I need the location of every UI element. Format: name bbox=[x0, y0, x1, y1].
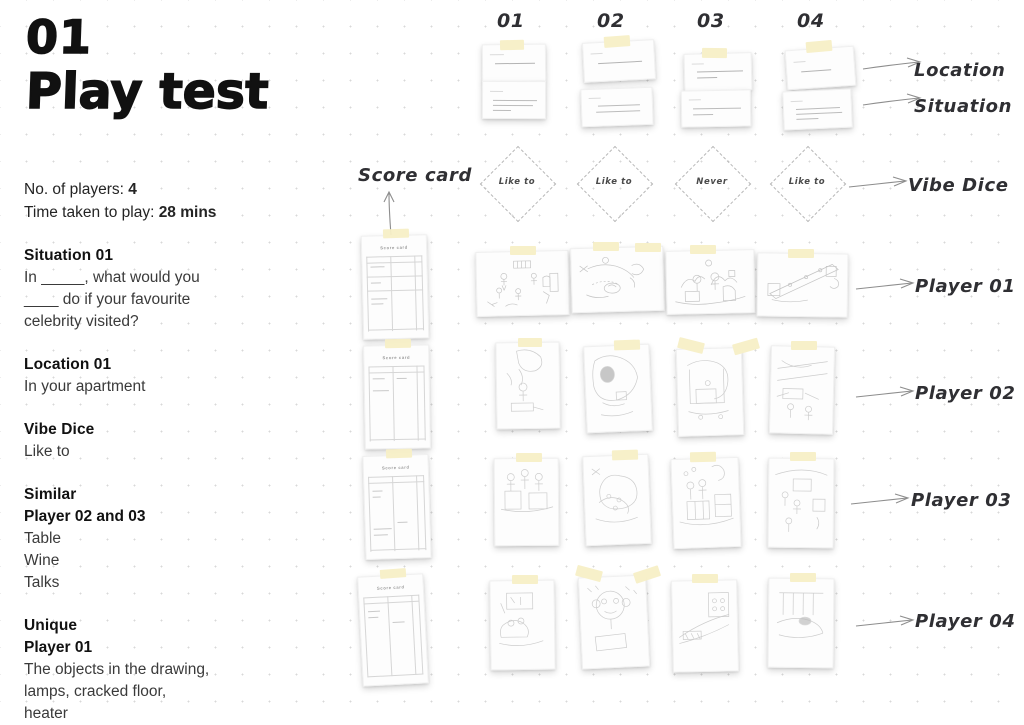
players-stat: No. of players: 4 bbox=[24, 179, 294, 201]
page-title: Play test bbox=[25, 66, 295, 117]
drawing-card[interactable] bbox=[757, 252, 849, 317]
tape-strip bbox=[383, 229, 409, 239]
sketch bbox=[579, 576, 649, 669]
situation-card[interactable] bbox=[482, 81, 546, 119]
drawing-card[interactable] bbox=[582, 454, 651, 546]
time-stat: Time taken to play: 28 mins bbox=[24, 202, 294, 224]
tape-strip bbox=[380, 568, 407, 579]
score-card-grid bbox=[364, 345, 430, 448]
section-line: Table bbox=[24, 528, 294, 550]
sketch bbox=[584, 345, 652, 433]
board-canvas: 01 Play test No. of players: 4 Time take… bbox=[0, 0, 1024, 715]
section-line: Wine bbox=[24, 550, 294, 572]
score-card-grid bbox=[362, 235, 428, 339]
time-value: 28 mins bbox=[159, 204, 217, 221]
score-card[interactable]: Score card bbox=[361, 234, 430, 340]
section-situation: Situation 01 In _____, what would you __… bbox=[24, 245, 294, 333]
row-label-situation: Situation bbox=[914, 96, 1012, 117]
section-line: The objects in the drawing, bbox=[24, 659, 294, 681]
score-card[interactable]: Score card bbox=[357, 573, 429, 686]
time-label: Time taken to play: bbox=[24, 204, 154, 221]
drawing-card[interactable] bbox=[583, 344, 653, 434]
drawing-card[interactable] bbox=[665, 249, 755, 315]
sketch bbox=[769, 459, 834, 548]
sketch bbox=[476, 251, 568, 316]
sketch bbox=[770, 346, 834, 433]
tape-strip bbox=[690, 452, 716, 462]
vibe-dice-label: Never bbox=[670, 177, 754, 187]
drawing-card[interactable] bbox=[676, 347, 744, 437]
players-label: No. of players: bbox=[24, 181, 124, 198]
section-heading: Situation 01 bbox=[24, 245, 294, 267]
section-heading: Vibe Dice bbox=[24, 419, 294, 441]
sketch bbox=[671, 458, 740, 548]
tape-strip bbox=[593, 242, 619, 251]
section-heading: Location 01 bbox=[24, 354, 294, 376]
tape-strip bbox=[516, 453, 542, 462]
section-unique: Unique Player 01 The objects in the draw… bbox=[24, 615, 294, 725]
drawing-card[interactable] bbox=[671, 579, 739, 672]
section-line: lamps, cracked floor, bbox=[24, 681, 294, 703]
section-vibe-dice: Vibe Dice Like to bbox=[24, 419, 294, 463]
vibe-dice-label: Like to bbox=[765, 177, 849, 187]
drawing-card[interactable] bbox=[475, 250, 569, 317]
score-card-grid bbox=[363, 455, 430, 559]
arrow-to-vibe-dice bbox=[848, 176, 910, 196]
score-card[interactable]: Score card bbox=[363, 344, 431, 449]
section-line: Like to bbox=[24, 441, 294, 463]
row-label-player-03: Player 03 bbox=[911, 490, 1012, 511]
section-line: In _____, what would you bbox=[24, 267, 294, 289]
section-line: In your apartment bbox=[24, 376, 294, 398]
tape-strip bbox=[614, 340, 640, 351]
tape-strip bbox=[512, 575, 538, 584]
sketch bbox=[495, 459, 559, 546]
play-stats: No. of players: 4 Time taken to play: 28… bbox=[24, 179, 294, 224]
tape-strip bbox=[510, 246, 536, 255]
section-heading: Unique bbox=[24, 615, 294, 637]
sketch bbox=[571, 247, 664, 313]
section-location: Location 01 In your apartment bbox=[24, 354, 294, 398]
sketch bbox=[672, 580, 738, 671]
tape-strip bbox=[692, 574, 718, 583]
arrow-to-player-04 bbox=[855, 615, 917, 635]
drawing-card[interactable] bbox=[670, 457, 741, 549]
sketch bbox=[758, 253, 848, 316]
row-label-vibe-dice: Vibe Dice bbox=[908, 175, 1009, 196]
drawing-card[interactable] bbox=[768, 458, 835, 549]
section-similar: Similar Player 02 and 03 Table Wine Talk… bbox=[24, 484, 294, 594]
drawing-card[interactable] bbox=[494, 458, 560, 547]
arrow-to-player-03 bbox=[850, 493, 912, 513]
column-header-01: 01 bbox=[497, 10, 525, 32]
tape-strip bbox=[633, 565, 661, 583]
arrow-to-player-02 bbox=[855, 386, 917, 406]
left-panel: 01 Play test No. of players: 4 Time take… bbox=[24, 6, 294, 725]
players-value: 4 bbox=[128, 181, 137, 198]
arrow-to-player-01 bbox=[855, 278, 917, 298]
drawing-card[interactable] bbox=[578, 575, 650, 670]
location-card[interactable] bbox=[785, 46, 857, 91]
drawing-card[interactable] bbox=[769, 345, 835, 435]
drawing-card[interactable] bbox=[489, 580, 555, 671]
location-card[interactable] bbox=[684, 52, 753, 92]
tape-strip bbox=[702, 48, 727, 58]
section-line: Talks bbox=[24, 572, 294, 594]
sketch bbox=[496, 343, 559, 429]
tape-strip bbox=[385, 339, 411, 348]
tape-strip bbox=[500, 40, 524, 50]
situation-card[interactable] bbox=[580, 87, 653, 127]
column-header-03: 03 bbox=[697, 10, 725, 32]
drawing-card[interactable] bbox=[570, 246, 665, 314]
row-label-player-02: Player 02 bbox=[915, 383, 1016, 404]
tape-strip bbox=[790, 452, 816, 461]
score-card[interactable]: Score card bbox=[362, 454, 431, 560]
tape-strip bbox=[790, 573, 816, 582]
tape-strip bbox=[635, 243, 661, 252]
row-label-location: Location bbox=[914, 60, 1005, 81]
section-line: ____ do if your favourite bbox=[24, 289, 294, 311]
row-label-player-01: Player 01 bbox=[915, 276, 1016, 297]
tape-strip bbox=[791, 341, 817, 350]
drawing-card[interactable] bbox=[495, 342, 560, 430]
tape-strip bbox=[518, 338, 542, 347]
tape-strip bbox=[806, 40, 833, 53]
section-subheading: Player 02 and 03 bbox=[24, 506, 294, 528]
score-card-grid bbox=[358, 574, 428, 685]
tape-strip bbox=[604, 35, 631, 48]
section-heading: Similar bbox=[24, 484, 294, 506]
row-label-player-04: Player 04 bbox=[915, 611, 1016, 632]
situation-card[interactable] bbox=[782, 89, 853, 131]
sketch bbox=[490, 581, 554, 670]
section-subheading: Player 01 bbox=[24, 637, 294, 659]
tape-strip bbox=[788, 249, 814, 258]
sketch bbox=[666, 250, 754, 314]
drawing-card[interactable] bbox=[768, 578, 835, 669]
scorecard-caption: Score card bbox=[358, 165, 472, 186]
tape-strip bbox=[690, 245, 716, 254]
vibe-dice-label: Like to bbox=[475, 177, 559, 187]
sketch bbox=[677, 348, 743, 436]
section-line: celebrity visited? bbox=[24, 311, 294, 333]
situation-card[interactable] bbox=[681, 89, 752, 127]
tape-strip bbox=[386, 449, 412, 459]
vibe-dice-label: Like to bbox=[572, 177, 656, 187]
page-number: 01 bbox=[25, 14, 295, 60]
tape-strip bbox=[732, 338, 760, 356]
column-header-04: 04 bbox=[797, 10, 825, 32]
sketch bbox=[769, 579, 834, 668]
tape-strip bbox=[612, 450, 638, 461]
column-header-02: 02 bbox=[597, 10, 625, 32]
sketch bbox=[583, 455, 650, 545]
section-line: heater bbox=[24, 703, 294, 725]
